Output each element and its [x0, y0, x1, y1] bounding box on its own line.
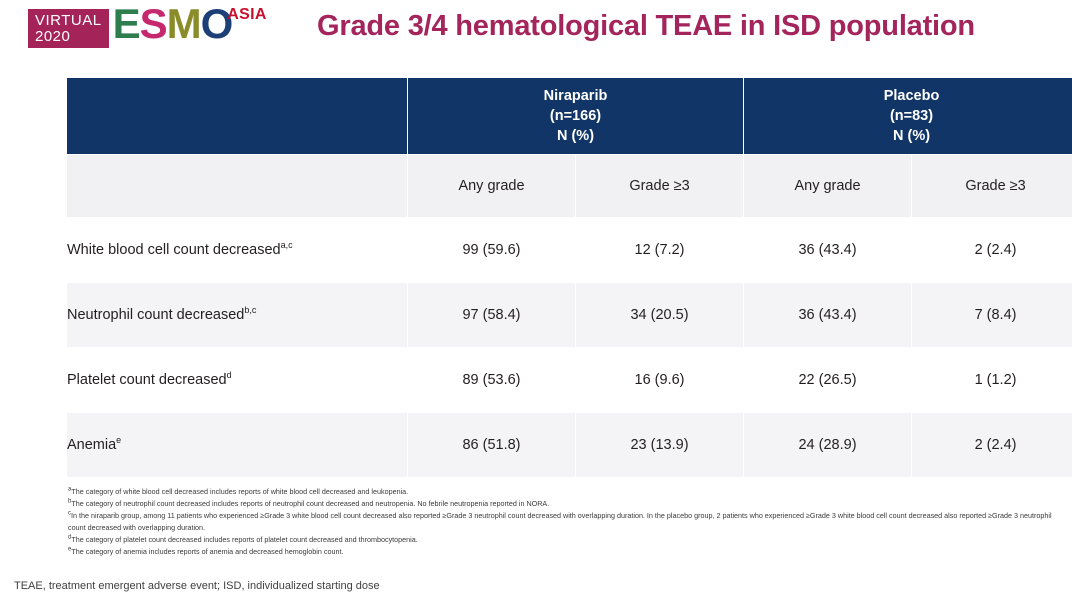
cell-value: 34 (20.5): [576, 283, 743, 347]
footnote-d: dThe category of platelet count decrease…: [68, 534, 1068, 546]
cell-value: 36 (43.4): [744, 283, 911, 347]
row-label-superscript: b,c: [244, 305, 256, 315]
footnotes-block: aThe category of white blood cell decrea…: [68, 486, 1068, 558]
row-label-text: Platelet count decreased: [67, 372, 227, 388]
virtual-year: 2020: [35, 29, 102, 45]
esmo-letter-m: M: [167, 6, 201, 42]
footnote-a: aThe category of white blood cell decrea…: [68, 486, 1068, 498]
row-label-anemia: Anemiae: [67, 413, 407, 477]
table-row: Neutrophil count decreasedb,c 97 (58.4) …: [67, 283, 1072, 347]
row-label-superscript: e: [116, 435, 121, 445]
footnote-e-text: The category of anemia includes reports …: [71, 547, 343, 556]
subheader-niraparib-any-grade: Any grade: [408, 155, 575, 217]
footnote-c: cIn the niraparib group, among 11 patien…: [68, 510, 1068, 533]
cell-value: 97 (58.4): [408, 283, 575, 347]
footnote-a-text: The category of white blood cell decreas…: [71, 487, 408, 496]
row-label-platelet-count-decreased: Platelet count decreasedd: [67, 348, 407, 412]
abbreviations-note: TEAE, treatment emergent adverse event; …: [14, 580, 380, 592]
esmo-asia-2020-logo: VIRTUAL 2020 E S M O ASIA: [28, 6, 267, 50]
slide-header: VIRTUAL 2020 E S M O ASIA Grade 3/4 hema…: [0, 0, 1072, 58]
footnote-c-text: In the niraparib group, among 11 patient…: [68, 511, 1052, 532]
footnote-b-text: The category of neutrophil count decreas…: [71, 499, 549, 508]
table-row: White blood cell count decreaseda,c 99 (…: [67, 218, 1072, 282]
group-header-niraparib-name: Niraparib: [408, 86, 743, 106]
group-header-niraparib-n: (n=166): [408, 106, 743, 126]
footnote-e: eThe category of anemia includes reports…: [68, 546, 1068, 558]
esmo-wordmark: E S M O ASIA: [113, 6, 267, 42]
group-header-placebo-unit: N (%): [744, 126, 1072, 146]
group-header-placebo-n: (n=83): [744, 106, 1072, 126]
table-body: White blood cell count decreaseda,c 99 (…: [67, 218, 1072, 477]
table-subheader-row: Any grade Grade ≥3 Any grade Grade ≥3: [67, 155, 1072, 217]
group-header-niraparib-unit: N (%): [408, 126, 743, 146]
table-row: Platelet count decreasedd 89 (53.6) 16 (…: [67, 348, 1072, 412]
row-label-text: White blood cell count decreased: [67, 242, 281, 258]
subheader-empty: [67, 155, 407, 217]
page-title: Grade 3/4 hematological TEAE in ISD popu…: [246, 10, 1046, 43]
cell-value: 1 (1.2): [912, 348, 1072, 412]
virtual-label: VIRTUAL: [35, 13, 102, 29]
group-header-niraparib: Niraparib (n=166) N (%): [408, 78, 743, 154]
cell-value: 7 (8.4): [912, 283, 1072, 347]
subheader-placebo-grade-3plus: Grade ≥3: [912, 155, 1072, 217]
esmo-letter-e: E: [113, 6, 140, 42]
row-label-white-blood-cell-count-decreased: White blood cell count decreaseda,c: [67, 218, 407, 282]
cell-value: 24 (28.9): [744, 413, 911, 477]
row-label-text: Neutrophil count decreased: [67, 307, 244, 323]
cell-value: 22 (26.5): [744, 348, 911, 412]
footnote-d-text: The category of platelet count decreased…: [71, 535, 417, 544]
row-label-superscript: a,c: [281, 240, 293, 250]
cell-value: 89 (53.6): [408, 348, 575, 412]
virtual-2020-badge: VIRTUAL 2020: [28, 9, 109, 48]
cell-value: 36 (43.4): [744, 218, 911, 282]
row-label-neutrophil-count-decreased: Neutrophil count decreasedb,c: [67, 283, 407, 347]
teae-table: Niraparib (n=166) N (%) Placebo (n=83) N…: [66, 77, 1072, 478]
cell-value: 2 (2.4): [912, 413, 1072, 477]
esmo-letter-s: S: [140, 6, 167, 42]
cell-value: 12 (7.2): [576, 218, 743, 282]
row-label-superscript: d: [227, 370, 232, 380]
cell-value: 16 (9.6): [576, 348, 743, 412]
footnote-b: bThe category of neutrophil count decrea…: [68, 498, 1068, 510]
subheader-niraparib-grade-3plus: Grade ≥3: [576, 155, 743, 217]
cell-value: 99 (59.6): [408, 218, 575, 282]
subheader-placebo-any-grade: Any grade: [744, 155, 911, 217]
table-group-header-row: Niraparib (n=166) N (%) Placebo (n=83) N…: [67, 78, 1072, 154]
group-header-placebo: Placebo (n=83) N (%): [744, 78, 1072, 154]
group-header-placebo-name: Placebo: [744, 86, 1072, 106]
cell-value: 2 (2.4): [912, 218, 1072, 282]
row-label-text: Anemia: [67, 437, 116, 453]
teae-table-container: Niraparib (n=166) N (%) Placebo (n=83) N…: [66, 77, 1072, 478]
group-header-empty: [67, 78, 407, 154]
cell-value: 86 (51.8): [408, 413, 575, 477]
cell-value: 23 (13.9): [576, 413, 743, 477]
table-row: Anemiae 86 (51.8) 23 (13.9) 24 (28.9) 2 …: [67, 413, 1072, 477]
